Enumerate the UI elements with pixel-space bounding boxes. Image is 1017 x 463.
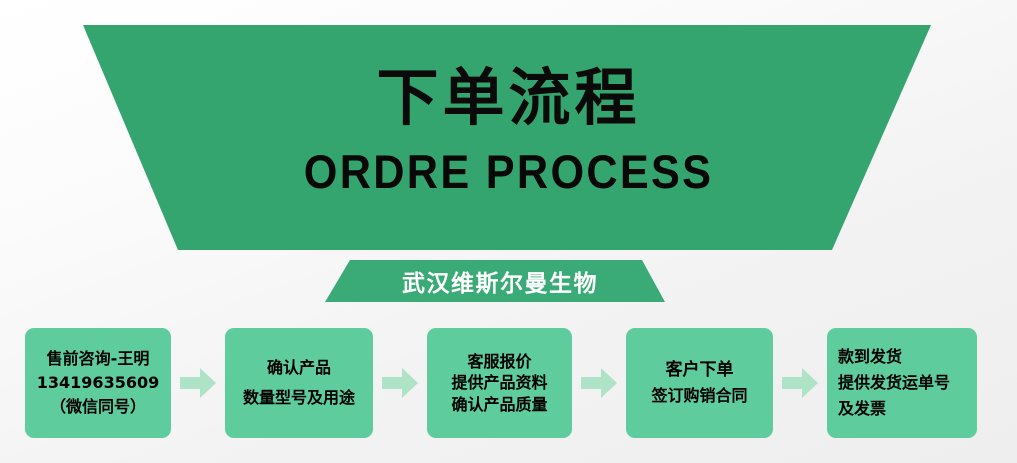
process-step-2[interactable]: 确认产品 数量型号及用途 xyxy=(225,328,373,438)
hero-trapezoid-shape xyxy=(0,0,1017,252)
step-1-line-3: （微信同号） xyxy=(50,395,146,419)
order-process-infographic: 下单流程 ORDRE PROCESS 武汉维斯尔曼生物 售前咨询-王明 1341… xyxy=(0,0,1017,463)
process-step-1[interactable]: 售前咨询-王明 13419635609 （微信同号） xyxy=(25,328,171,438)
step-2-line-2: 数量型号及用途 xyxy=(243,383,355,413)
company-ribbon-shape xyxy=(300,256,700,306)
process-step-5[interactable]: 款到发货 提供发货运单号 及发票 xyxy=(827,328,977,438)
process-step-4[interactable]: 客户下单 签订购销合同 xyxy=(626,328,773,438)
process-flow-row: 售前咨询-王明 13419635609 （微信同号） 确认产品 数量型号及用途 … xyxy=(0,326,1017,440)
step-1-line-1: 售前咨询-王明 xyxy=(47,347,150,371)
step-3-line-2: 提供产品资料 xyxy=(451,372,547,393)
right-arrow-icon-2 xyxy=(380,366,420,400)
step-5-line-3: 及发票 xyxy=(838,396,886,422)
step-4-line-2: 签订购销合同 xyxy=(651,384,747,408)
step-5-line-2: 提供发货运单号 xyxy=(838,370,950,396)
right-arrow-icon-3 xyxy=(579,366,619,400)
step-3-line-1: 客服报价 xyxy=(467,351,531,372)
step-4-line-1: 客户下单 xyxy=(666,358,734,384)
step-1-line-2: 13419635609 xyxy=(37,371,159,395)
step-5-line-1: 款到发货 xyxy=(838,344,902,370)
right-arrow-icon-1 xyxy=(178,366,218,400)
company-ribbon: 武汉维斯尔曼生物 xyxy=(300,256,700,306)
step-3-line-3: 确认产品质量 xyxy=(451,394,547,415)
hero-banner: 下单流程 ORDRE PROCESS xyxy=(0,0,1017,252)
process-step-3[interactable]: 客服报价 提供产品资料 确认产品质量 xyxy=(427,328,572,438)
right-arrow-icon-4 xyxy=(780,366,820,400)
step-2-line-1: 确认产品 xyxy=(267,353,331,383)
